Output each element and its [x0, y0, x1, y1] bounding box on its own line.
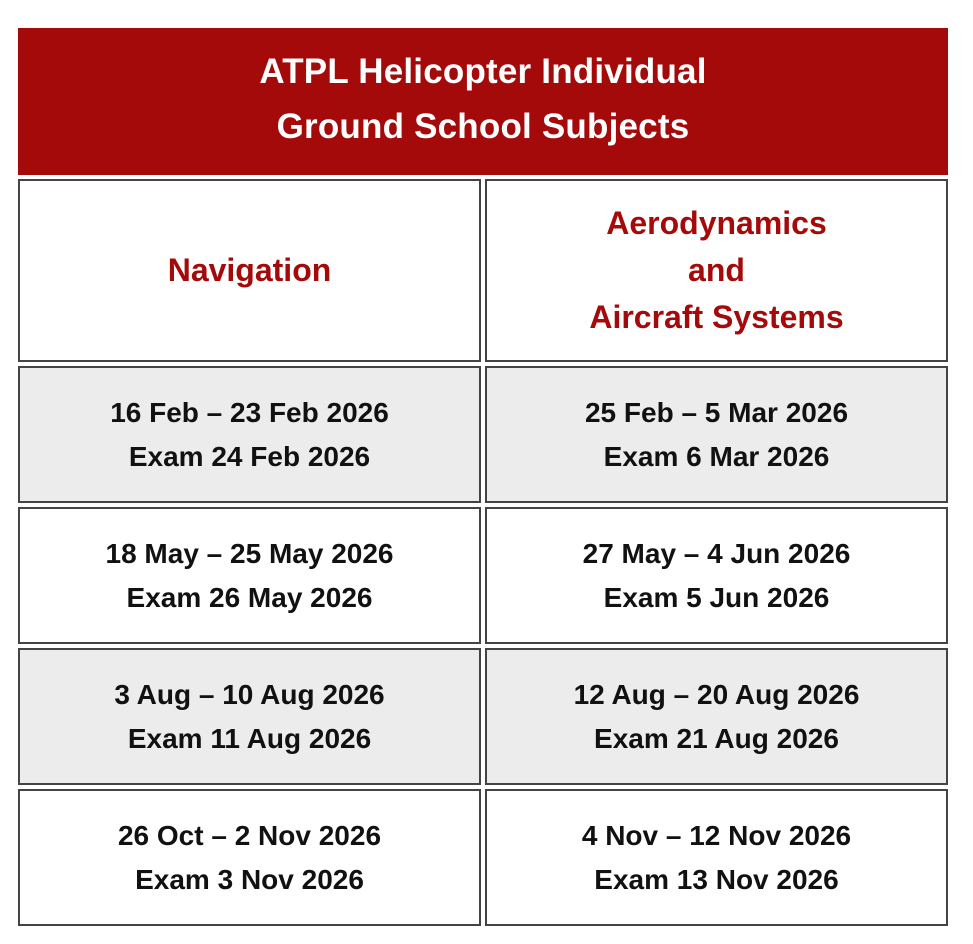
exam-date: Exam 11 Aug 2026 — [128, 717, 371, 760]
ground-school-schedule-table: ATPL Helicopter Individual Ground School… — [18, 28, 948, 926]
schedule-cell: 27 May – 4 Jun 2026 Exam 5 Jun 2026 — [485, 507, 948, 644]
exam-date: Exam 21 Aug 2026 — [594, 717, 839, 760]
exam-date: Exam 24 Feb 2026 — [129, 435, 370, 478]
page-title-banner: ATPL Helicopter Individual Ground School… — [18, 28, 948, 175]
exam-date: Exam 26 May 2026 — [127, 576, 373, 619]
course-dates: 27 May – 4 Jun 2026 — [583, 532, 851, 575]
column-header-line: Aerodynamics — [606, 200, 827, 247]
column-header-line: and — [688, 247, 745, 294]
exam-date: Exam 13 Nov 2026 — [594, 858, 838, 901]
column-header-navigation: Navigation — [18, 179, 481, 362]
column-header-aerodynamics-and-aircraft-systems: Aerodynamics and Aircraft Systems — [485, 179, 948, 362]
course-dates: 18 May – 25 May 2026 — [106, 532, 394, 575]
schedule-cell: 18 May – 25 May 2026 Exam 26 May 2026 — [18, 507, 481, 644]
column-header-line: Navigation — [168, 247, 332, 294]
course-dates: 4 Nov – 12 Nov 2026 — [582, 814, 851, 857]
schedule-cell: 3 Aug – 10 Aug 2026 Exam 11 Aug 2026 — [18, 648, 481, 785]
page-title-line-2: Ground School Subjects — [277, 100, 690, 154]
page-root: ATPL Helicopter Individual Ground School… — [0, 0, 973, 944]
course-dates: 25 Feb – 5 Mar 2026 — [585, 391, 848, 434]
schedule-cell: 12 Aug – 20 Aug 2026 Exam 21 Aug 2026 — [485, 648, 948, 785]
course-dates: 16 Feb – 23 Feb 2026 — [110, 391, 389, 434]
schedule-cell: 16 Feb – 23 Feb 2026 Exam 24 Feb 2026 — [18, 366, 481, 503]
course-dates: 26 Oct – 2 Nov 2026 — [118, 814, 381, 857]
page-title-line-1: ATPL Helicopter Individual — [259, 45, 706, 99]
exam-date: Exam 5 Jun 2026 — [604, 576, 830, 619]
exam-date: Exam 6 Mar 2026 — [604, 435, 830, 478]
course-dates: 12 Aug – 20 Aug 2026 — [574, 673, 860, 716]
exam-date: Exam 3 Nov 2026 — [135, 858, 364, 901]
schedule-grid: Navigation Aerodynamics and Aircraft Sys… — [18, 179, 948, 926]
schedule-cell: 26 Oct – 2 Nov 2026 Exam 3 Nov 2026 — [18, 789, 481, 926]
schedule-cell: 25 Feb – 5 Mar 2026 Exam 6 Mar 2026 — [485, 366, 948, 503]
column-header-line: Aircraft Systems — [589, 294, 843, 341]
course-dates: 3 Aug – 10 Aug 2026 — [114, 673, 384, 716]
schedule-cell: 4 Nov – 12 Nov 2026 Exam 13 Nov 2026 — [485, 789, 948, 926]
